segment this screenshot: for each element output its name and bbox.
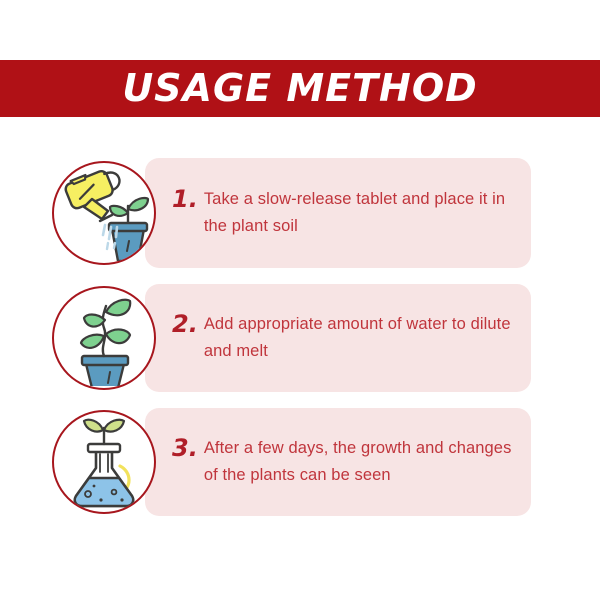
step-description: Take a slow-release tablet and place it … (204, 186, 520, 240)
step-number: 1. (172, 186, 198, 213)
step-text: 1. Take a slow-release tablet and place … (172, 186, 520, 240)
step-number: 2. (172, 311, 198, 338)
step-text: 3. After a few days, the growth and chan… (172, 435, 520, 489)
step-description: Add appropriate amount of water to dilut… (204, 311, 520, 365)
step-number: 3. (172, 435, 198, 462)
steps-list: 1. Take a slow-release tablet and place … (0, 0, 600, 600)
watering-can-seedling-glyph (56, 165, 152, 261)
flask-sprout-icon (52, 410, 156, 514)
watering-can-seedling-icon (52, 161, 156, 265)
step-text: 2. Add appropriate amount of water to di… (172, 311, 520, 365)
potted-plant-glyph (56, 290, 152, 386)
step-item: 1. Take a slow-release tablet and place … (0, 158, 600, 268)
usage-method-infographic: USAGE METHOD (0, 0, 600, 600)
step-item: 2. Add appropriate amount of water to di… (0, 284, 600, 392)
step-item: 3. After a few days, the growth and chan… (0, 408, 600, 516)
potted-plant-icon (52, 286, 156, 390)
flask-sprout-glyph (56, 414, 152, 510)
step-description: After a few days, the growth and changes… (204, 435, 520, 489)
